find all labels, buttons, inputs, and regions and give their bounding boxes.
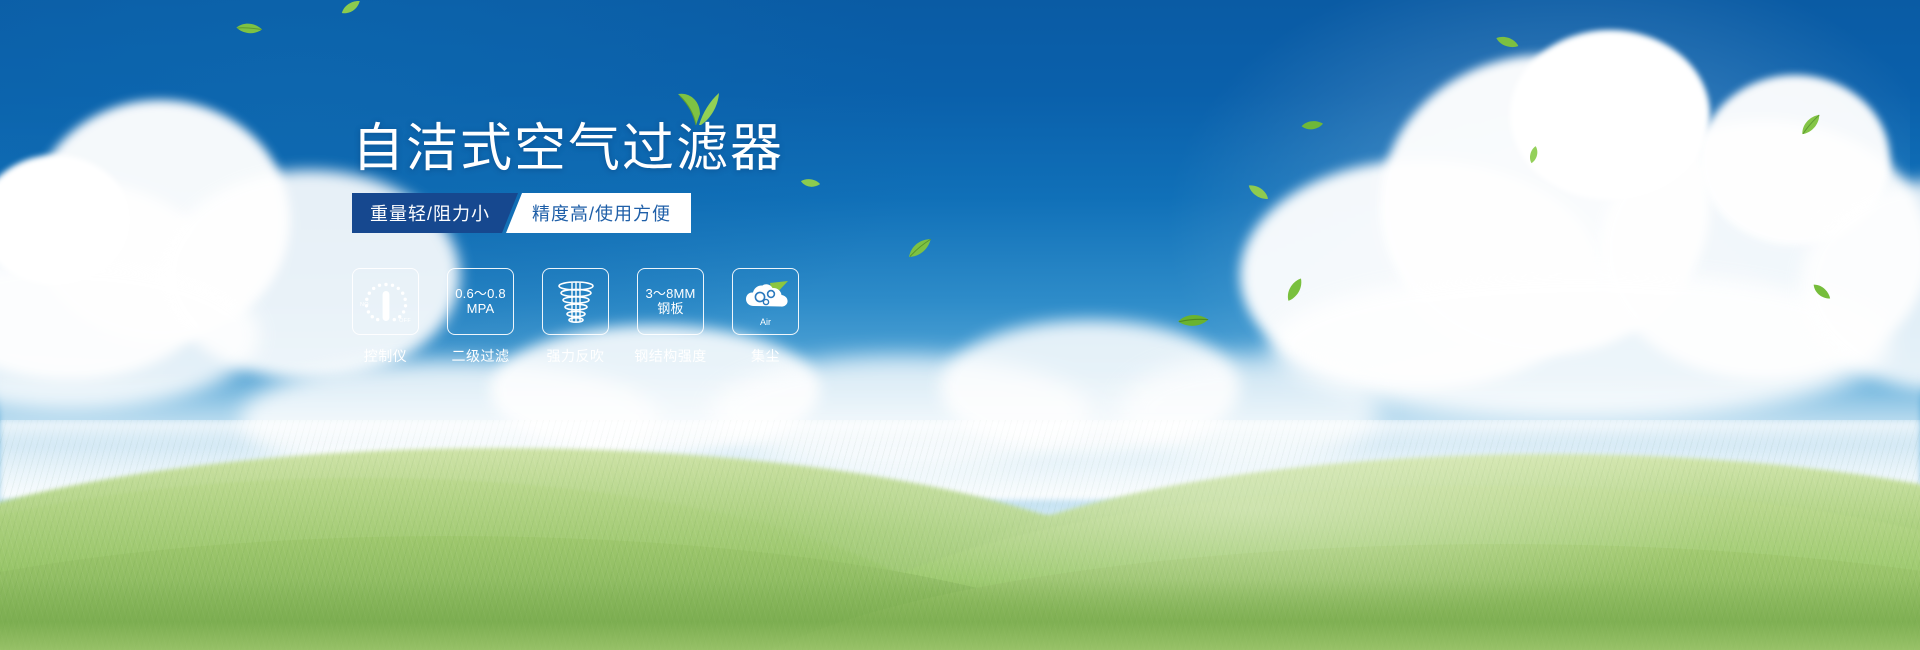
page-title: 自洁式空气过滤器 [352, 123, 784, 175]
tag-precision-convenience: 精度高/使用方便 [506, 193, 691, 233]
feature-item: Air 集尘 [732, 268, 799, 366]
feature-label: 强力反吹 [547, 346, 605, 366]
steel-plate-icon: 3～8MM 钢板 [637, 268, 704, 335]
pressure-value-icon: 0.6～0.8 MPA [447, 268, 514, 335]
air-dust-cloud-icon: Air [732, 268, 799, 335]
plate-thickness: 3～8MM [645, 287, 695, 302]
tag-weight-resistance: 重量轻/阻力小 [352, 193, 518, 233]
hero-content: 自洁式空气过滤器 重量轻/阻力小 精度高/使用方便 [0, 0, 1920, 650]
tag-row: 重量轻/阻力小 精度高/使用方便 [352, 193, 691, 233]
pressure-range: 0.6～0.8 [455, 287, 506, 302]
gauge-off-label: OFF [399, 318, 411, 324]
feature-item: 0.6～0.8 MPA 二级过滤 [447, 268, 514, 366]
feature-item: 强力反吹 [542, 268, 609, 366]
feature-label: 控制仪 [364, 346, 408, 366]
air-label: Air [733, 317, 798, 327]
gauge-on-label: NO [360, 302, 369, 308]
feature-list: NO OFF 控制仪 0.6～0.8 MPA 二级过滤 [352, 268, 799, 366]
feature-label: 钢结构强度 [634, 346, 707, 366]
feature-item: 3～8MM 钢板 钢结构强度 [637, 268, 704, 366]
feature-label: 集尘 [751, 346, 780, 366]
feature-label: 二级过滤 [452, 346, 510, 366]
gauge-dial-icon: NO OFF [352, 268, 419, 335]
feature-item: NO OFF 控制仪 [352, 268, 419, 366]
hero-banner: 自洁式空气过滤器 重量轻/阻力小 精度高/使用方便 [0, 0, 1920, 650]
plate-material: 钢板 [657, 302, 683, 317]
filter-cartridge-icon [542, 268, 609, 335]
pressure-unit: MPA [467, 302, 495, 317]
